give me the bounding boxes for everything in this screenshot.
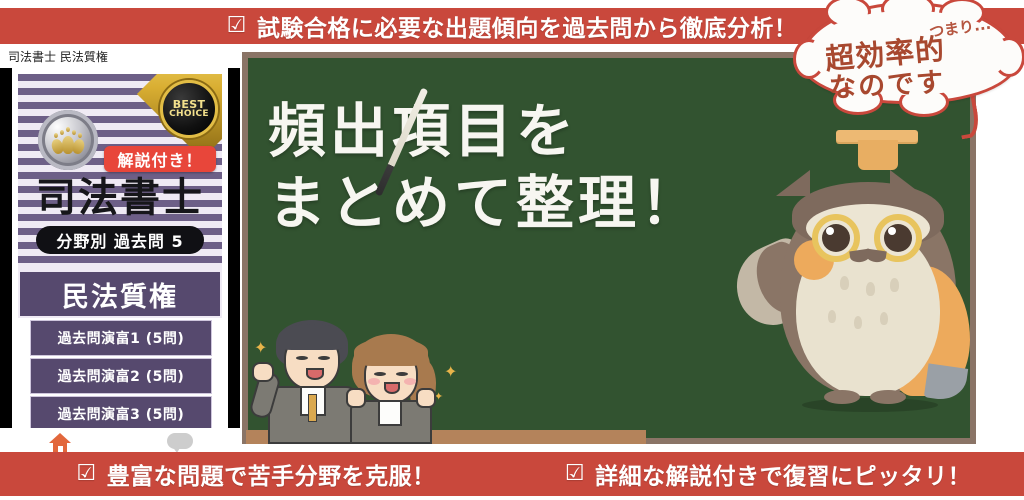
speech-bubble-callout: つまり... 超効率的 なのです xyxy=(800,2,1018,120)
section-heading: 民法質権 xyxy=(18,270,222,318)
blackboard-line-2: まとめて整理！ xyxy=(268,168,702,240)
best-choice-badge: BEST CHOICE xyxy=(160,80,218,138)
app-content-area: BEST CHOICE 解説付き！ 司法書士 分野別 過去問 5 民 xyxy=(12,68,228,428)
checkbox-icon: ☑ xyxy=(76,463,96,485)
bottom-tab-bar: Home このアプリについて xyxy=(0,428,240,452)
badge-line2: CHOICE xyxy=(169,110,209,119)
top-promo-text: 試験合格に必要な出題傾向を過去問から徹底分析！ xyxy=(257,9,798,43)
home-icon xyxy=(49,433,71,452)
blackboard-line-1: 頻出項目を xyxy=(268,96,702,168)
checkbox-icon: ☑ xyxy=(227,15,247,37)
explanation-badge: 解説付き！ xyxy=(104,146,216,172)
bottom-promo-banner: ☑ 豊富な問題で苦手分野を克服！ ☑ 詳細な解説付きで復習にピッタリ！ xyxy=(0,452,1024,496)
quiz-button-2[interactable]: 過去問演畗2 (5問) xyxy=(30,358,212,394)
tab-about[interactable]: このアプリについて xyxy=(120,428,240,452)
app-body: BEST CHOICE 解説付き！ 司法書士 分野別 過去問 5 民 xyxy=(0,68,240,452)
checkbox-icon: ☑ xyxy=(565,463,585,485)
bottom-promo-right-text: 詳細な解説付きで復習にピッタリ！ xyxy=(595,457,971,491)
female-student xyxy=(342,334,458,444)
quiz-button-3[interactable]: 過去問演畗3 (5問) xyxy=(30,396,212,428)
speech-bubble-line-2: なのです xyxy=(828,60,946,105)
owl-professor-mascot xyxy=(740,128,980,444)
blackboard-text: 頻出項目を まとめて整理！ xyxy=(268,96,702,240)
book-cover: BEST CHOICE 解説付き！ 司法書士 分野別 過去問 5 xyxy=(18,74,222,270)
paulownia-crest-icon xyxy=(38,110,98,170)
promo-screenshot: ☑ 試験合格に必要な出題傾向を過去問から徹底分析！ 司法書士 民法質権 BEST… xyxy=(0,0,1024,500)
tab-home[interactable]: Home xyxy=(0,428,120,452)
speech-bubble-icon xyxy=(167,433,193,452)
student-characters: ✦ ✦ ✦ ✦ xyxy=(258,316,458,444)
bottom-promo-left-text: 豊富な問題で苦手分野を克服！ xyxy=(107,457,436,491)
cover-subtitle: 分野別 過去問 5 xyxy=(36,226,204,254)
quiz-button-1[interactable]: 過去問演畗1 (5問) xyxy=(30,320,212,356)
speech-bubble-body: つまり... 超効率的 なのです xyxy=(800,2,1018,104)
phone-screenshot: 司法書士 民法質権 BEST CHOICE xyxy=(0,44,240,452)
bottom-promo-right: ☑ 詳細な解説付きで復習にピッタリ！ xyxy=(512,457,1024,491)
cover-title: 司法書士 xyxy=(18,178,222,218)
app-title: 司法書士 民法質権 xyxy=(8,48,108,65)
bottom-promo-left: ☑ 豊富な問題で苦手分野を克服！ xyxy=(0,457,512,491)
